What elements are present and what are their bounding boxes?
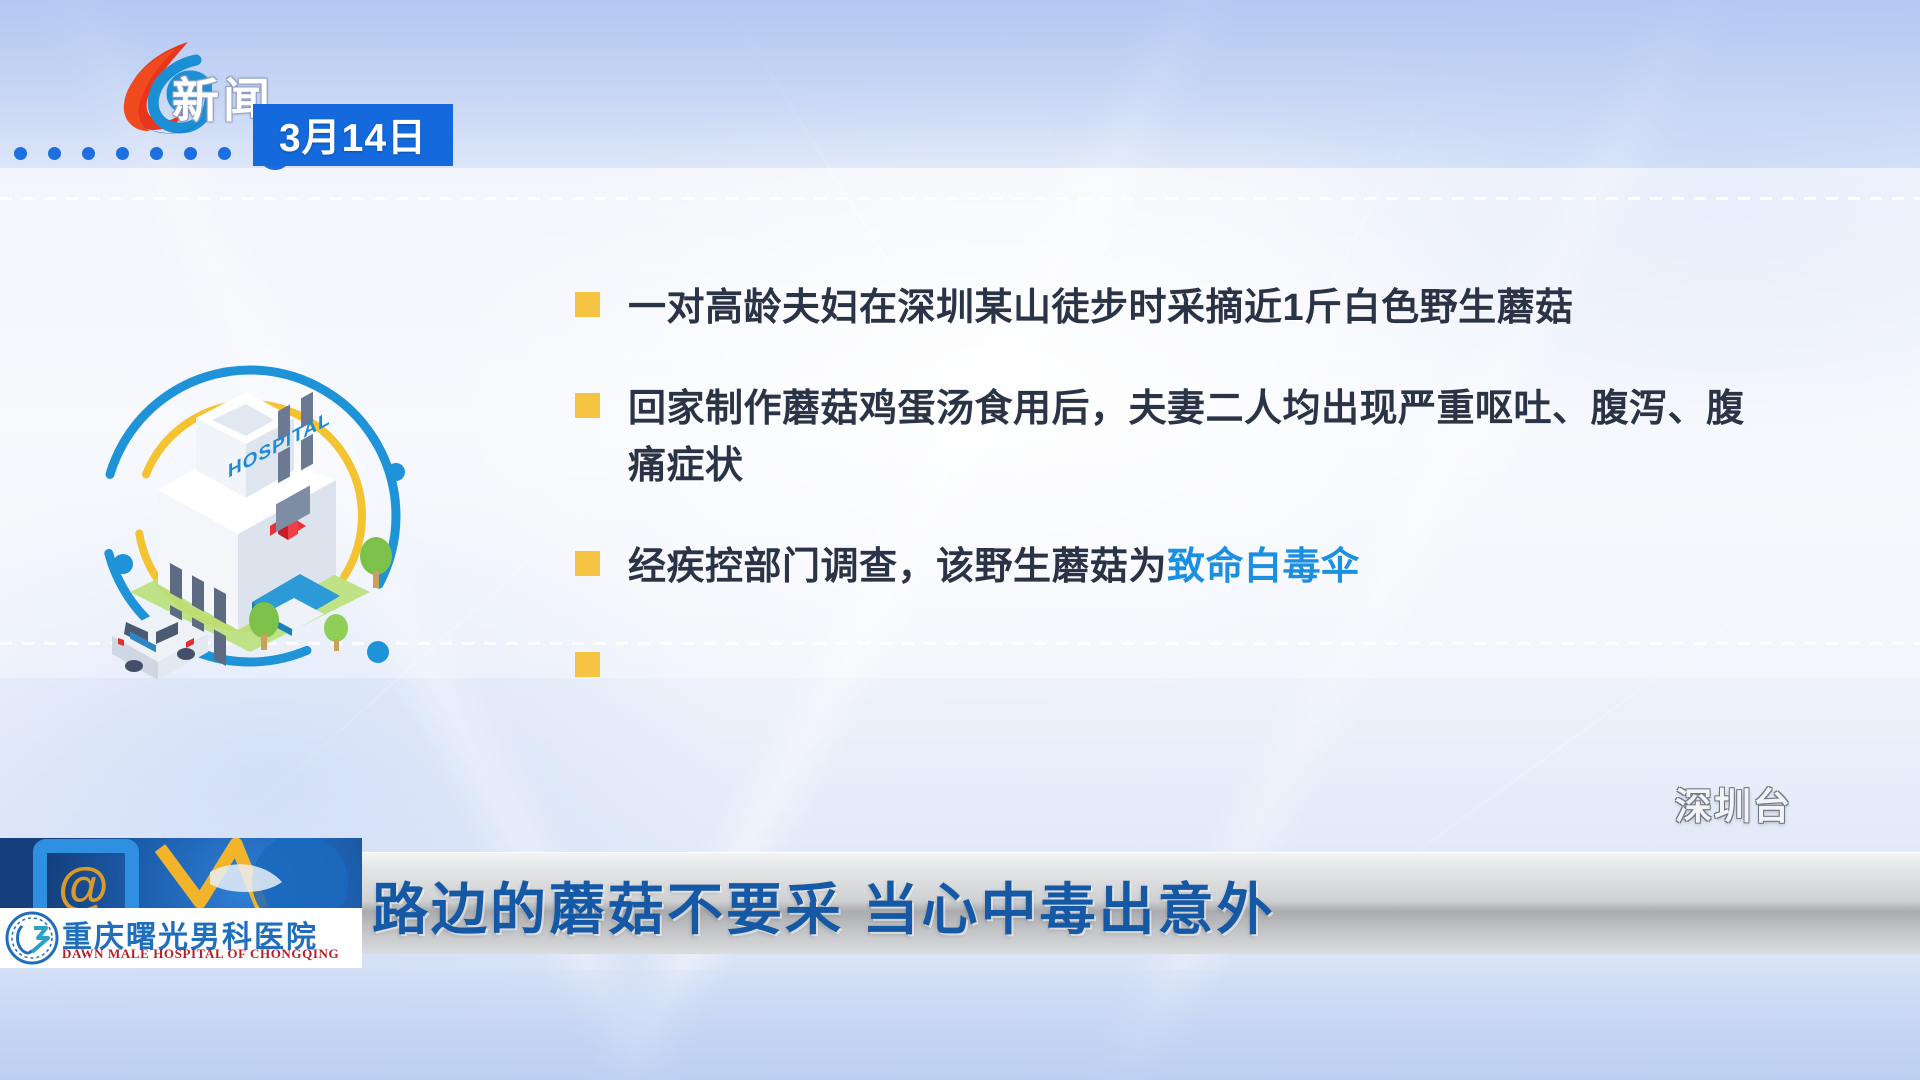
- advertiser-emblem-icon: [4, 910, 60, 966]
- list-item: 经疾控部门调查，该野生蘑菇为致命白毒伞: [575, 539, 1765, 596]
- tree-icon: [360, 537, 392, 588]
- list-item-empty: [575, 640, 1765, 677]
- station-watermark: 深圳台: [1675, 776, 1792, 830]
- news-point-text: 回家制作蘑菇鸡蛋汤食用后，夫妻二人均出现严重呕吐、腹泻、腹痛症状: [628, 381, 1765, 495]
- bullet-square-icon: [575, 652, 600, 677]
- headline-title: 路边的蘑菇不要采 当心中毒出意外: [372, 865, 1276, 946]
- dot: [150, 147, 163, 160]
- dot: [14, 147, 27, 160]
- advertiser-nameplate: 重庆曙光男科医院 DAWN MALE HOSPITAL OF CHONGQING: [0, 908, 362, 968]
- news-point-text: 经疾控部门调查，该野生蘑菇为致命白毒伞: [628, 539, 1360, 596]
- tree-icon: [324, 614, 348, 651]
- bullet-square-icon: [575, 551, 600, 576]
- background-bottom-band: [0, 970, 1920, 1080]
- panel-top-divider: [0, 197, 1920, 200]
- broadcast-screen: 新闻 3月14日 一对高龄夫妇在深圳某山徒步时采摘近1斤白色野生蘑菇 回家制作蘑…: [0, 0, 1920, 1080]
- advertiser-overlay[interactable]: @ 重庆曙光男科医院 DAWN MALE HOSPITAL OF CHONGQI…: [0, 838, 362, 968]
- hospital-illustration: HOSPITAL: [78, 352, 423, 682]
- advertiser-name-en: DAWN MALE HOSPITAL OF CHONGQING: [62, 946, 339, 962]
- news-point-text: 一对高龄夫妇在深圳某山徒步时采摘近1斤白色野生蘑菇: [628, 280, 1574, 337]
- dot: [82, 147, 95, 160]
- dot: [116, 147, 129, 160]
- decorative-dot-row: [14, 136, 292, 170]
- bullet-square-icon: [575, 393, 600, 418]
- date-badge-text: 3月14日: [279, 107, 427, 163]
- list-item: 回家制作蘑菇鸡蛋汤食用后，夫妻二人均出现严重呕吐、腹泻、腹痛症状: [575, 381, 1765, 495]
- news-point-highlight: 致命白毒伞: [1167, 546, 1360, 588]
- date-badge: 3月14日: [253, 104, 453, 166]
- bullet-square-icon: [575, 292, 600, 317]
- dot: [218, 147, 231, 160]
- news-points-list: 一对高龄夫妇在深圳某山徒步时采摘近1斤白色野生蘑菇 回家制作蘑菇鸡蛋汤食用后，夫…: [575, 280, 1765, 677]
- list-item: 一对高龄夫妇在深圳某山徒步时采摘近1斤白色野生蘑菇: [575, 280, 1765, 337]
- dot: [48, 147, 61, 160]
- dot: [184, 147, 197, 160]
